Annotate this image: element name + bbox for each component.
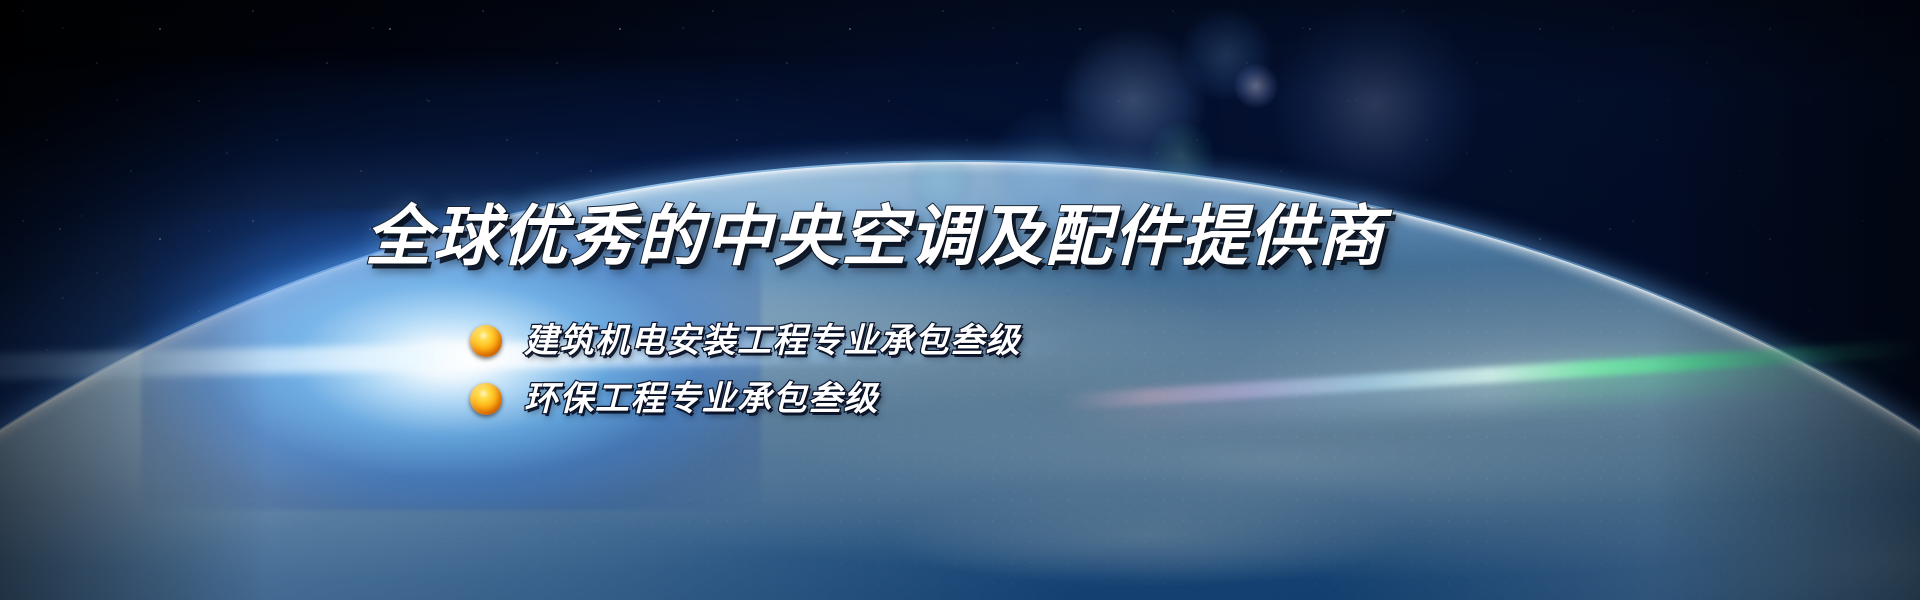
bullet-label: 建筑机电安装工程专业承包叁级 (524, 324, 1021, 358)
bullet-label: 环保工程专业承包叁级 (524, 382, 879, 416)
orange-dot-bullet-icon (470, 325, 502, 357)
orange-dot-bullet-icon (470, 383, 502, 415)
banner-headline: 全球优秀的中央空调及配件提供商 (365, 203, 1385, 269)
bullet-item: 环保工程专业承包叁级 (470, 371, 1021, 427)
banner-content: 全球优秀的中央空调及配件提供商 建筑机电安装工程专业承包叁级 环保工程专业承包叁… (0, 0, 1920, 600)
banner-bullet-list: 建筑机电安装工程专业承包叁级 环保工程专业承包叁级 (470, 313, 1021, 429)
hero-banner: 全球优秀的中央空调及配件提供商 建筑机电安装工程专业承包叁级 环保工程专业承包叁… (0, 0, 1920, 600)
bullet-item: 建筑机电安装工程专业承包叁级 (470, 313, 1021, 369)
